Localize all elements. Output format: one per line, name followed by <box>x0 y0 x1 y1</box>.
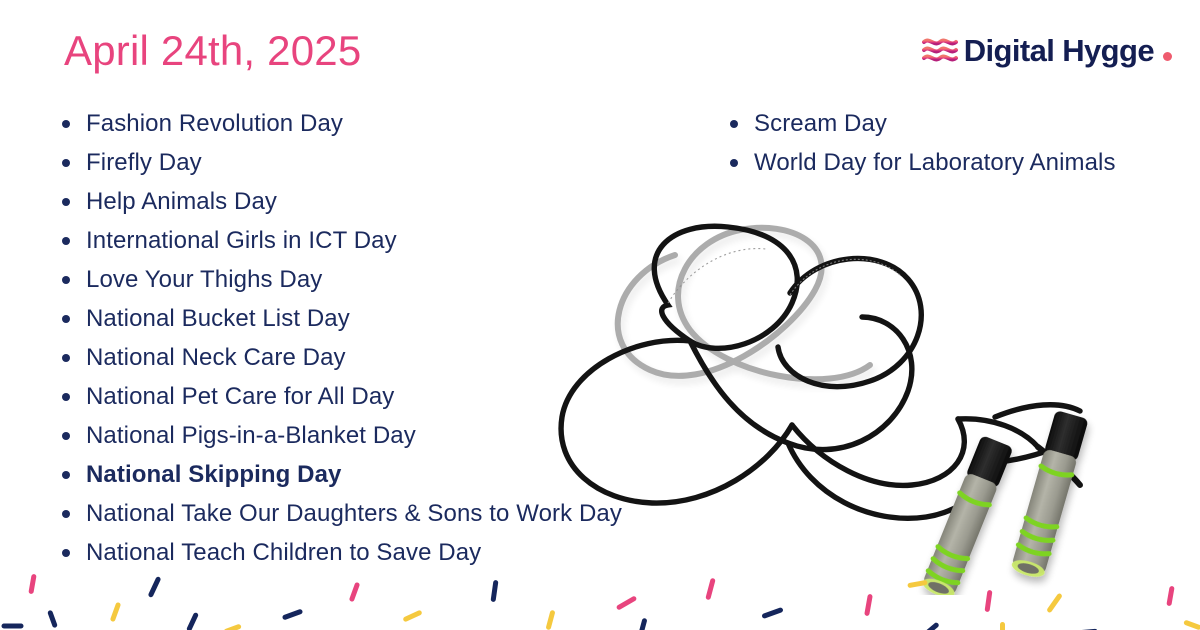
confetti-piece <box>864 594 873 617</box>
confetti-piece <box>761 607 783 619</box>
observance-item[interactable]: Fashion Revolution Day <box>62 104 622 143</box>
bullet-icon <box>62 354 70 362</box>
observance-label: National Pet Care for All Day <box>86 377 394 416</box>
confetti-piece <box>616 595 638 610</box>
wave-lines-icon <box>922 35 958 67</box>
confetti-piece <box>186 612 199 630</box>
observance-label: National Pigs-in-a-Blanket Day <box>86 416 416 455</box>
confetti-piece <box>110 602 122 623</box>
jump-rope-photo <box>540 195 1200 595</box>
observance-label: World Day for Laboratory Animals <box>754 143 1116 182</box>
confetti-piece <box>921 622 940 630</box>
confetti-piece <box>705 578 716 601</box>
confetti-piece <box>47 610 58 629</box>
brand-name: Digital Hygge <box>964 33 1154 69</box>
confetti-piece <box>1183 620 1200 630</box>
bullet-icon <box>62 432 70 440</box>
observance-item[interactable]: Help Animals Day <box>62 182 622 221</box>
brand-logo: Digital Hygge <box>922 33 1172 69</box>
rope-handle-right <box>1010 410 1089 580</box>
page-title: April 24th, 2025 <box>64 27 361 75</box>
confetti-piece <box>28 574 36 595</box>
observance-label: National Skipping Day <box>86 455 341 494</box>
observance-label: Love Your Thighs Day <box>86 260 322 299</box>
bullet-icon <box>62 510 70 518</box>
bullet-icon <box>62 549 70 557</box>
confetti-piece <box>1166 586 1174 607</box>
confetti-piece <box>2 624 24 629</box>
confetti-piece <box>1046 593 1063 614</box>
observance-label: International Girls in ICT Day <box>86 221 397 260</box>
bullet-icon <box>62 120 70 128</box>
bullet-icon <box>730 159 738 167</box>
confetti-piece <box>1000 622 1005 630</box>
observance-item[interactable]: National Take Our Daughters & Sons to Wo… <box>62 494 622 533</box>
observance-list-right: Scream DayWorld Day for Laboratory Anima… <box>730 104 1116 182</box>
observance-item[interactable]: Firefly Day <box>62 143 622 182</box>
confetti-piece <box>349 582 361 603</box>
bullet-icon <box>62 159 70 167</box>
brand-dot-icon <box>1163 52 1172 61</box>
observance-label: National Bucket List Day <box>86 299 350 338</box>
observance-item[interactable]: World Day for Laboratory Animals <box>730 143 1116 182</box>
bullet-icon <box>62 315 70 323</box>
bullet-icon <box>62 471 70 479</box>
confetti-piece <box>490 580 498 602</box>
bullet-icon <box>62 393 70 401</box>
observance-item[interactable]: National Pigs-in-a-Blanket Day <box>62 416 622 455</box>
confetti-piece <box>984 590 992 612</box>
observance-label: National Neck Care Day <box>86 338 346 377</box>
confetti-piece <box>907 580 928 588</box>
observance-item[interactable]: National Bucket List Day <box>62 299 622 338</box>
bullet-icon <box>730 120 738 128</box>
confetti-piece <box>637 618 647 630</box>
observance-item[interactable]: International Girls in ICT Day <box>62 221 622 260</box>
bullet-icon <box>62 237 70 245</box>
bullet-icon <box>62 198 70 206</box>
observance-list-left: Fashion Revolution DayFirefly DayHelp An… <box>62 104 622 572</box>
observance-label: Firefly Day <box>86 143 202 182</box>
confetti-piece <box>223 624 242 630</box>
observance-item[interactable]: National Pet Care for All Day <box>62 377 622 416</box>
confetti-decoration <box>0 560 1200 630</box>
confetti-piece <box>402 610 422 623</box>
confetti-piece <box>545 610 555 630</box>
confetti-piece <box>148 576 162 598</box>
observance-item[interactable]: National Skipping Day <box>62 455 622 494</box>
observance-item[interactable]: National Neck Care Day <box>62 338 622 377</box>
observance-label: Fashion Revolution Day <box>86 104 343 143</box>
observance-label: National Take Our Daughters & Sons to Wo… <box>86 494 622 533</box>
observance-item[interactable]: Love Your Thighs Day <box>62 260 622 299</box>
observance-label: Help Animals Day <box>86 182 277 221</box>
confetti-piece <box>282 609 303 621</box>
bullet-icon <box>62 276 70 284</box>
observance-label: Scream Day <box>754 104 887 143</box>
observance-item[interactable]: Scream Day <box>730 104 1116 143</box>
